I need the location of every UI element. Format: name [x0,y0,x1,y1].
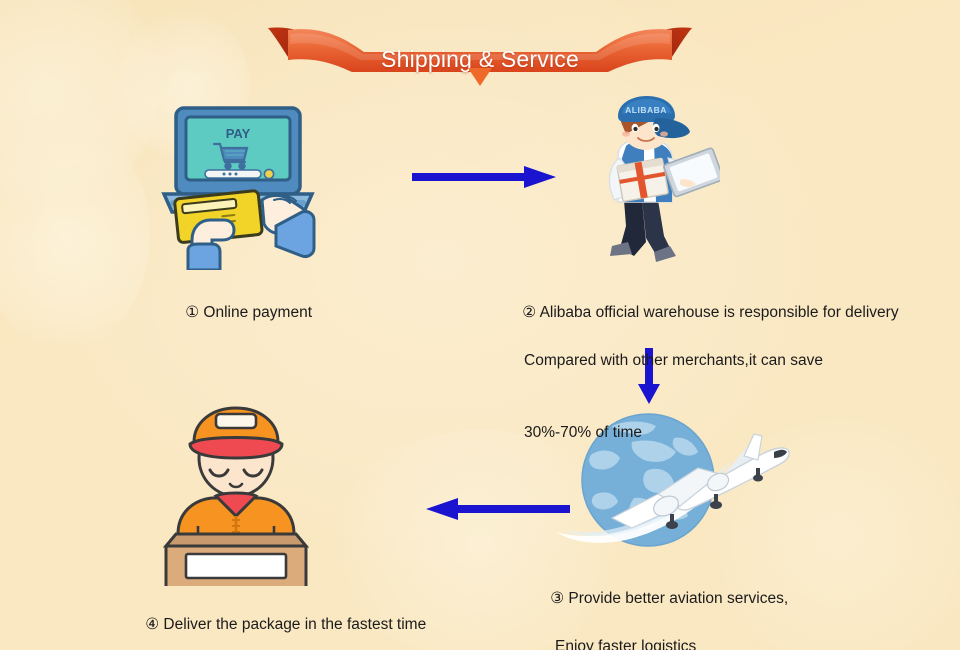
step-1-caption: ① Online payment [168,277,312,349]
laptop-screen-pay-text: PAY [226,126,251,141]
step-2-line-1: ② Alibaba official warehouse is responsi… [522,304,898,321]
step-4-line-1: ④ Deliver the package in the fastest tim… [145,616,426,633]
step-3-line-1: ③ Provide better aviation services, [550,590,788,607]
background-light-blob [0,0,160,210]
arrow-aviation-to-delivery [418,494,570,524]
step-2-line-3: 30%-70% of time [505,421,899,445]
step-2-caption: ② Alibaba official warehouse is responsi… [505,277,899,493]
step-3-line-2: Enjoy faster logistics [533,635,788,650]
background-light-blob [0,120,150,350]
banner-pointer-triangle-icon [468,68,492,86]
step-1-line-1: ① Online payment [185,304,312,321]
delivery-worker-box-illustration [148,404,324,591]
step-2-line-2: Compared with other merchants,it can sav… [505,349,899,373]
step-4-caption: ④ Deliver the package in the fastest tim… [128,589,426,650]
box-shipping-label [186,554,286,578]
alibaba-courier-illustration: ALIBABA [568,96,720,273]
courier-cap-text: ALIBABA [625,105,667,115]
step-3-caption: ③ Provide better aviation services, Enjo… [533,563,788,650]
arrow-payment-to-warehouse [412,162,556,192]
shipping-and-service-infographic: Shipping & Service PAY [0,0,960,650]
online-payment-laptop-illustration: PAY [150,100,330,275]
